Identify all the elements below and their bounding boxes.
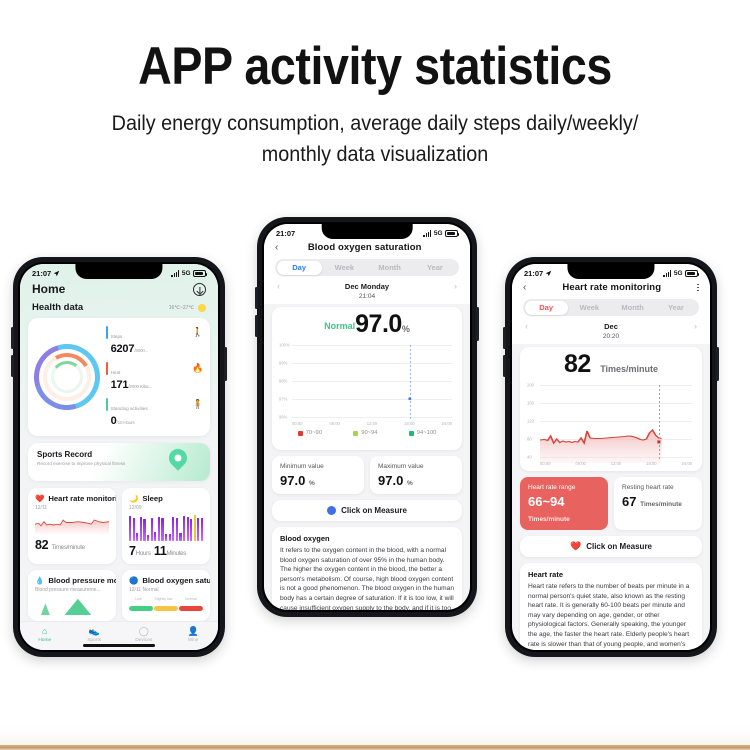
minimum-value: 97.0 [280,473,305,488]
prev-date-button[interactable]: ‹ [277,282,280,291]
tab-week[interactable]: Week [322,261,367,275]
legend-item: 70~90 [298,430,322,436]
metric-standing: Standing activities 0/10 Hours 🧍 [106,397,202,429]
heart-rate-chart-card: 82 Times/minute 200 160 120 80 40 [520,347,702,471]
tile-unit: Times/minute [52,544,85,551]
screen-heart-rate: 21:07 5G ‹ Heart rate monitoring [512,264,710,650]
minimum-value-card: Minimum value 97.0 % [272,456,364,494]
tile-heart-rate[interactable]: ❤️Heart rate monitoring 12/11 82 Times/m… [28,488,116,564]
tab-home[interactable]: ⌂Home [20,626,70,643]
signal-bars-icon [663,270,671,277]
measure-label: Click on Measure [341,506,407,515]
current-date-label: Dec [604,322,618,331]
date-navigator: ‹ Dec Monday › [264,282,470,292]
tile-unit: Hours [136,550,151,557]
legend-label: 90~94 [361,430,377,436]
person-icon: 👤 [169,626,219,637]
network-label: 5G [434,230,443,237]
tab-month[interactable]: Month [367,261,412,275]
reading-time: 21:04 [264,293,470,300]
tab-mine[interactable]: 👤Mine [169,626,219,643]
heart-rate-range-value: 66~94 [528,494,565,509]
drop-icon: 💧 [35,577,44,585]
power-button[interactable] [476,307,479,341]
flame-icon: 🔥 [192,361,202,375]
scale-label-slightly-low: Slightly low [155,597,173,601]
oxygen-icon [327,506,336,515]
home-indicator [83,644,155,647]
maximum-unit: % [407,480,413,487]
volume-up-button[interactable] [503,327,506,349]
screen-home: 21:07 5G Home Healt [20,264,218,650]
tab-label: Mine [169,638,219,643]
resting-heart-rate-unit: Times/minute [640,501,682,508]
heart-icon: ❤️ [570,542,581,551]
kebab-menu-icon[interactable] [697,284,699,292]
tab-label: Sports [70,638,120,643]
reading-time: 20:20 [512,333,710,340]
notch [322,224,413,239]
resting-heart-rate-value: 67 [622,494,636,509]
date-navigator: ‹ Dec › [512,322,710,332]
tile-title: Blood oxygen saturation [142,576,210,585]
minmax-row: Minimum value 97.0 % Maximum value 97.0 … [272,456,462,494]
reading-value: 82 [564,350,591,378]
resting-heart-rate-label: Resting heart rate [622,483,694,492]
article-blood-oxygen: Blood oxygen It refers to the oxygen con… [272,527,462,610]
minimum-unit: % [309,480,315,487]
metric-label: Heat [111,370,121,375]
minimum-label: Minimum value [280,462,356,471]
heart-stats-row: Heart rate range 66~94 Times/minute Rest… [520,477,702,530]
location-arrow-icon [53,270,60,277]
legend-label: 94~100 [417,430,437,436]
oxygen-icon: 🔵 [129,577,138,585]
article-body: Heart rate refers to the number of beats… [528,582,694,650]
phone-right: 21:07 5G ‹ Heart rate monitoring [505,257,717,657]
maximum-value-card: Maximum value 97.0 % [370,456,462,494]
volume-down-button[interactable] [503,355,506,377]
phone-left: 21:07 5G Home Healt [13,257,225,657]
oxygen-chart: 100% 99% 98% 97% 96% 00:0006:0012:0018:0… [278,341,456,419]
maximum-value: 97.0 [378,473,403,488]
shoe-icon: 👟 [70,626,120,637]
reading-value: 97.0 [355,310,402,338]
activity-rings [34,344,100,410]
chevron-left-icon[interactable]: ‹ [275,243,278,253]
tab-month[interactable]: Month [611,301,654,315]
health-data-section-header: Health data 16℃~27℃ [20,302,218,318]
scale-label-normal: Normal [185,597,197,601]
next-date-button[interactable]: › [694,322,697,331]
tile-date: 12/09 [129,505,203,511]
network-label: 5G [674,270,683,277]
status-badge: Normal [324,321,355,331]
battery-icon [685,270,698,277]
measure-label: Click on Measure [586,542,652,551]
metric-label: Standing activities [111,406,148,411]
metric-unit: /2000 Kilac... [128,384,152,389]
legend-item: 94~100 [409,430,437,436]
power-button[interactable] [716,347,719,381]
tab-year[interactable]: Year [412,261,457,275]
tab-sports[interactable]: 👟Sports [70,626,120,643]
period-tabs: Day Week Month Year [275,259,459,276]
wooden-surface-strip [0,745,750,750]
mini-sleep-chart [129,515,203,541]
next-date-button[interactable]: › [454,282,457,291]
metric-steps: Steps 6207/8000... 🚶 [106,325,202,357]
heart-rate-chart: 200 160 120 80 40 00:0006:0012:0018:0024… [526,381,696,459]
health-tiles: ❤️Heart rate monitoring 12/11 82 Times/m… [28,488,210,621]
surface-fade [0,731,750,745]
tab-label: Devices [119,638,169,643]
tab-year[interactable]: Year [654,301,697,315]
metric-value: 6207 [111,343,135,355]
oxygen-chart-card: Normal97.0% 100% 99% 98% 97% 96% 00:0006… [272,307,462,450]
watch-icon: ◯ [119,626,169,637]
status-time: 21:07 [32,269,51,278]
tab-day[interactable]: Day [525,301,568,315]
metric-unit: /8000... [134,348,148,353]
home-icon: ⌂ [20,626,70,637]
tile-date: 12/11 Normal [129,587,203,593]
article-title: Heart rate [528,570,694,579]
article-body: It refers to the oxygen content in the b… [280,546,454,610]
tab-day[interactable]: Day [277,261,322,275]
status-time: 21:07 [524,269,543,278]
tab-label: Home [20,638,70,643]
tab-devices[interactable]: ◯Devices [119,626,169,643]
oxygen-scale-bar [129,606,203,611]
reading-unit: % [402,324,410,334]
phone-center: 21:07 5G ‹ Blood oxygen saturation Day [257,217,477,617]
page-title: Heart rate monitoring [562,282,661,293]
prev-date-button[interactable]: ‹ [525,322,528,331]
tile-blood-pressure[interactable]: 💧Blood pressure monitoring Blood pressur… [28,570,116,621]
screen-blood-oxygen: 21:07 5G ‹ Blood oxygen saturation Day [264,224,470,610]
heart-rate-range-unit: Times/minute [528,516,570,523]
tile-title: Heart rate monitoring [48,494,116,503]
volume-up-button[interactable] [11,327,14,349]
tile-value-2: 11 [154,544,167,558]
metric-label: Steps [111,334,123,339]
tile-blood-oxygen[interactable]: 🔵Blood oxygen saturation 12/11 Normal Lo… [122,570,210,621]
current-reading: Normal97.0% [272,307,462,339]
metric-unit: /10 Hours [117,420,135,425]
health-metrics: Steps 6207/8000... 🚶 Heat 171/2000 Kilac… [106,325,204,429]
download-circle-icon[interactable] [193,283,206,296]
tile-unit-2: Minutes [166,550,186,557]
maximum-label: Maximum value [378,462,454,471]
x-axis-labels: 00:0006:0012:0018:0024:00 [292,421,452,426]
tile-value: 7 [129,544,136,558]
health-data-card[interactable]: Steps 6207/8000... 🚶 Heat 171/2000 Kilac… [28,318,210,436]
network-label: 5G [182,270,191,277]
power-button[interactable] [224,347,227,381]
mini-bp-chart [35,597,109,615]
status-time: 21:07 [276,229,295,238]
app-header: ‹ Blood oxygen saturation [264,240,470,259]
x-axis-labels: 00:0006:0012:0018:0024:00 [540,461,692,466]
notch [75,264,162,279]
page-title: Blood oxygen saturation [308,242,422,253]
sports-record-title: Sports Record [37,450,92,459]
chart-data-point [657,440,660,443]
legend-item: 90~94 [353,430,377,436]
walking-icon: 🚶 [192,325,202,339]
sports-record-card[interactable]: Sports Record Record exercise to improve… [28,443,210,481]
mini-heart-chart [35,515,109,535]
current-date-label: Dec Monday [345,282,389,291]
metric-value: 171 [111,379,129,391]
weather-temp: 16℃~27℃ [169,305,194,311]
volume-down-button[interactable] [11,355,14,377]
reading-unit: Times/minute [600,364,658,374]
article-title: Blood oxygen [280,534,454,543]
tile-sleep[interactable]: 🌙Sleep 12/09 7Hours 11Minutes [122,488,210,564]
standing-icon: 🧍 [192,397,202,411]
chart-data-point [408,397,411,400]
measure-button[interactable]: ❤️ Click on Measure [520,536,702,557]
poster-canvas: APP activity statistics Daily energy con… [0,0,750,750]
location-arrow-icon [545,270,552,277]
tab-week[interactable]: Week [568,301,611,315]
heart-icon: ❤️ [35,495,44,503]
signal-bars-icon [423,230,431,237]
sun-icon [198,304,206,312]
tile-value: 82 [35,538,48,552]
moon-icon: 🌙 [129,495,138,503]
heart-rate-range-label: Heart rate range [528,483,600,492]
tile-title: Sleep [142,494,163,503]
current-reading: 82 Times/minute [520,347,702,379]
legend-label: 70~90 [306,430,322,436]
map-pin-icon [165,445,190,470]
page-title: APP activity statistics [45,36,705,97]
page-subtitle: Daily energy consumption, average daily … [99,108,651,170]
chart-cursor-line [410,345,411,419]
measure-button[interactable]: Click on Measure [272,500,462,521]
home-header: Home [20,280,218,302]
volume-up-button[interactable] [255,287,258,309]
chart-cursor-line [659,385,660,459]
chevron-left-icon[interactable]: ‹ [523,283,526,293]
scale-label-low: Low [135,597,142,601]
period-tabs: Day Week Month Year [523,299,699,316]
sports-record-subtitle: Record exercise to improve physical fitn… [37,461,125,466]
article-heart-rate: Heart rate Heart rate refers to the numb… [520,563,702,650]
resting-heart-rate-card: Resting heart rate 67 Times/minute [614,477,702,530]
heart-rate-range-card: Heart rate range 66~94 Times/minute [520,477,608,530]
app-header: ‹ Heart rate monitoring [512,280,710,299]
tile-date: Blood pressure measureme... [35,587,109,593]
volume-down-button[interactable] [255,315,258,337]
health-data-label: Health data [32,302,83,313]
battery-icon [193,270,206,277]
home-title: Home [32,282,65,296]
tile-date: 12/11 [35,505,109,511]
battery-icon [445,230,458,237]
signal-bars-icon [171,270,179,277]
metric-heat: Heat 171/2000 Kilac... 🔥 [106,361,202,393]
notch [567,264,654,279]
tile-title: Blood pressure monitoring [48,576,116,585]
